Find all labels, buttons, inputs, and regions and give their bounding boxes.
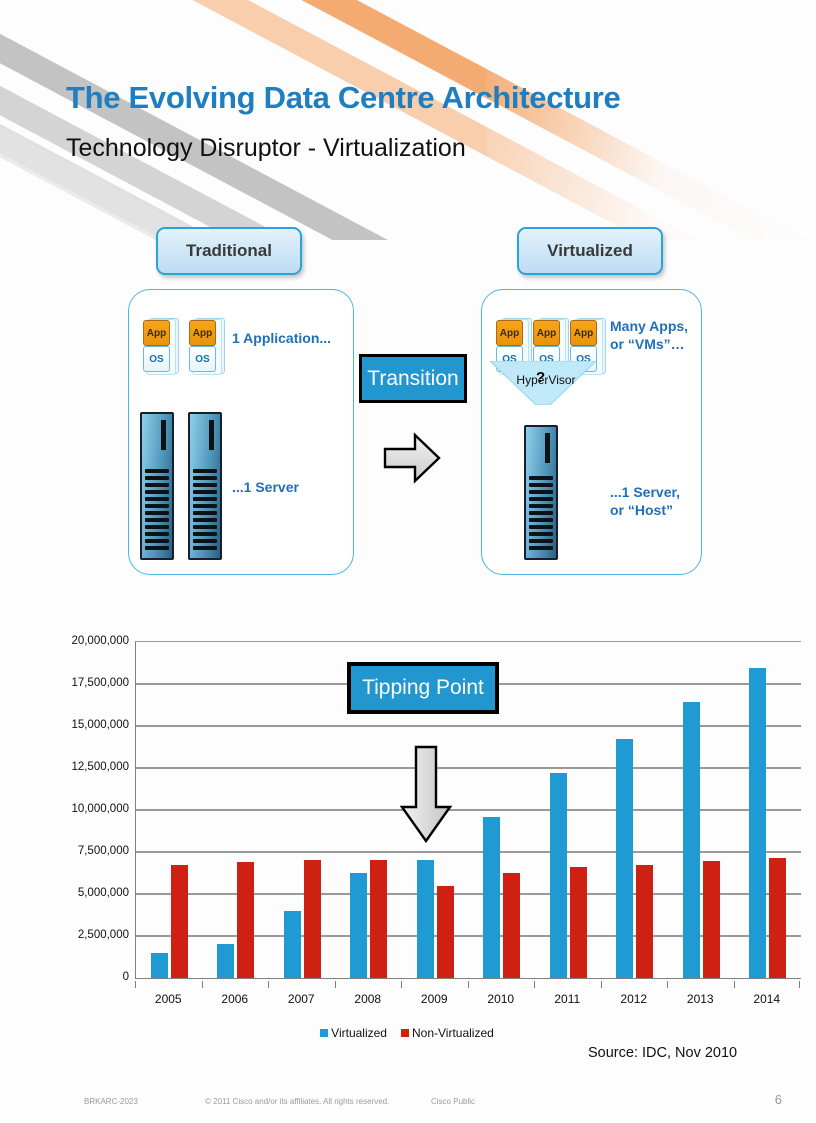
chart-bar-group (602, 642, 669, 978)
chart-bar-virtualized (284, 911, 301, 978)
server-vents (529, 476, 553, 550)
hypervisor-label: HyperVisor (496, 373, 596, 387)
chart-y-tick-label: 5,000,000 (78, 887, 129, 899)
traditional-caption-label: Traditional (186, 241, 272, 261)
traditional-note-top: 1 Application... (232, 330, 331, 348)
chart-x-tick-label: 2007 (268, 981, 335, 1006)
chart-x-tick-label: 2010 (468, 981, 535, 1006)
chart-source-note: Source: IDC, Nov 2010 (588, 1045, 737, 1061)
os-box: OS (143, 346, 170, 372)
chart-bar-non-virtualized (370, 860, 387, 978)
virtualized-panel: App OS App OS App OS Many Apps, or “VMs”… (481, 289, 702, 575)
chart-bar-non-virtualized (437, 886, 454, 978)
server-drive-slot (209, 420, 214, 450)
chart-y-tick-label: 20,000,000 (71, 635, 129, 647)
decorative-banner (0, 0, 816, 240)
page-number: 6 (775, 1092, 782, 1107)
app-box: App (189, 320, 216, 346)
chart-legend-label: Non-Virtualized (412, 1026, 494, 1040)
slide-subtitle: Technology Disruptor - Virtualization (66, 134, 466, 163)
chart-y-tick-label: 0 (123, 971, 129, 983)
banner-fade-overlay (486, 0, 816, 240)
chart-y-tick-label: 17,500,000 (71, 677, 129, 689)
virtualized-note-bottom: ...1 Server, or “Host” (610, 484, 680, 519)
server-drive-slot (545, 433, 550, 463)
server-icon (188, 412, 222, 560)
chart-bar-virtualized (749, 668, 766, 978)
chart-bar-group (535, 642, 602, 978)
chart-bar-group (735, 642, 802, 978)
chart-bar-virtualized (616, 739, 633, 978)
chart-y-tick-label: 7,500,000 (78, 845, 129, 857)
chart-bar-virtualized (151, 953, 168, 978)
chart-x-tick-label: 2014 (734, 981, 801, 1006)
transition-label: Transition (367, 367, 458, 391)
footer-session-id: BRKARC-2023 (84, 1097, 138, 1106)
chart-bar-non-virtualized (703, 861, 720, 978)
chart-bar-non-virtualized (503, 873, 520, 978)
chart-bar-group (136, 642, 203, 978)
chart-x-tick-label: 2005 (135, 981, 202, 1006)
app-box: App (533, 320, 560, 346)
virtualized-caption-badge: Virtualized (517, 227, 663, 275)
chart-x-tick-label: 2009 (401, 981, 468, 1006)
chart-bar-virtualized (483, 817, 500, 978)
chart-bar-virtualized (350, 873, 367, 978)
chart-bar-non-virtualized (769, 858, 786, 978)
chart-legend-swatch (401, 1029, 409, 1037)
virtualized-note-bottom-line2: or “Host” (610, 502, 680, 520)
chart-x-tick-label: 2011 (534, 981, 601, 1006)
slide-title: The Evolving Data Centre Architecture (66, 80, 621, 116)
server-icon (524, 425, 558, 560)
virtualized-note-top: Many Apps, or “VMs”… (610, 318, 688, 353)
chart-legend-label: Virtualized (331, 1026, 387, 1040)
chart-y-tick-label: 15,000,000 (71, 719, 129, 731)
chart-y-tick-label: 2,500,000 (78, 929, 129, 941)
tipping-point-badge: Tipping Point (347, 662, 499, 714)
chart-bar-group (668, 642, 735, 978)
arrow-down-icon (400, 745, 452, 843)
traditional-note-bottom: ...1 Server (232, 479, 299, 497)
chart-bar-non-virtualized (171, 865, 188, 978)
chart-x-tick-label: 2013 (667, 981, 734, 1006)
chart-bar-non-virtualized (570, 867, 587, 978)
chart-x-tick-label: 2006 (202, 981, 269, 1006)
virtualized-caption-label: Virtualized (547, 241, 633, 261)
chart-bar-group (203, 642, 270, 978)
chart-x-tick-label: 2012 (601, 981, 668, 1006)
server-icon (140, 412, 174, 560)
chart-y-axis: 02,500,0005,000,0007,500,00010,000,00012… (57, 641, 129, 977)
chart-x-axis: 2005200620072008200920102011201220132014 (135, 981, 800, 1006)
chart-bar-non-virtualized (636, 865, 653, 978)
chart-bar-non-virtualized (237, 862, 254, 978)
server-vents (193, 469, 217, 550)
chart-legend: VirtualizedNon-Virtualized (57, 1026, 757, 1040)
arrow-right-icon (383, 432, 441, 484)
chart-bar-virtualized (683, 702, 700, 978)
chart-bar-non-virtualized (304, 860, 321, 978)
traditional-caption-badge: Traditional (156, 227, 302, 275)
chart-bar-virtualized (550, 773, 567, 978)
chart-legend-item[interactable]: Virtualized (320, 1026, 387, 1040)
virtualized-note-top-line1: Many Apps, (610, 318, 688, 336)
chart-y-tick-label: 12,500,000 (71, 761, 129, 773)
chart-bar-group (269, 642, 336, 978)
chart-bar-virtualized (217, 944, 234, 978)
chart-y-tick-label: 10,000,000 (71, 803, 129, 815)
footer-classification: Cisco Public (431, 1097, 475, 1106)
chart-legend-swatch (320, 1029, 328, 1037)
tipping-point-label: Tipping Point (362, 676, 484, 700)
chart-legend-item[interactable]: Non-Virtualized (401, 1026, 494, 1040)
virtualized-note-bottom-line1: ...1 Server, (610, 484, 680, 502)
os-box: OS (189, 346, 216, 372)
app-box: App (496, 320, 523, 346)
slide-footer: BRKARC-2023 © 2011 Cisco and/or its affi… (0, 1092, 816, 1123)
virtualized-note-top-line2: or “VMs”… (610, 336, 688, 354)
footer-copyright: © 2011 Cisco and/or its affiliates. All … (205, 1097, 389, 1106)
chart-bar-virtualized (417, 860, 434, 978)
app-box: App (570, 320, 597, 346)
hypervisor-artifact-glyph: ? (536, 369, 545, 386)
chart-x-tick-label: 2008 (335, 981, 402, 1006)
traditional-panel: App OS App OS 1 Application... ...1 Serv… (128, 289, 354, 575)
server-vents (145, 469, 169, 550)
app-box: App (143, 320, 170, 346)
server-drive-slot (161, 420, 166, 450)
transition-badge: Transition (359, 354, 467, 403)
